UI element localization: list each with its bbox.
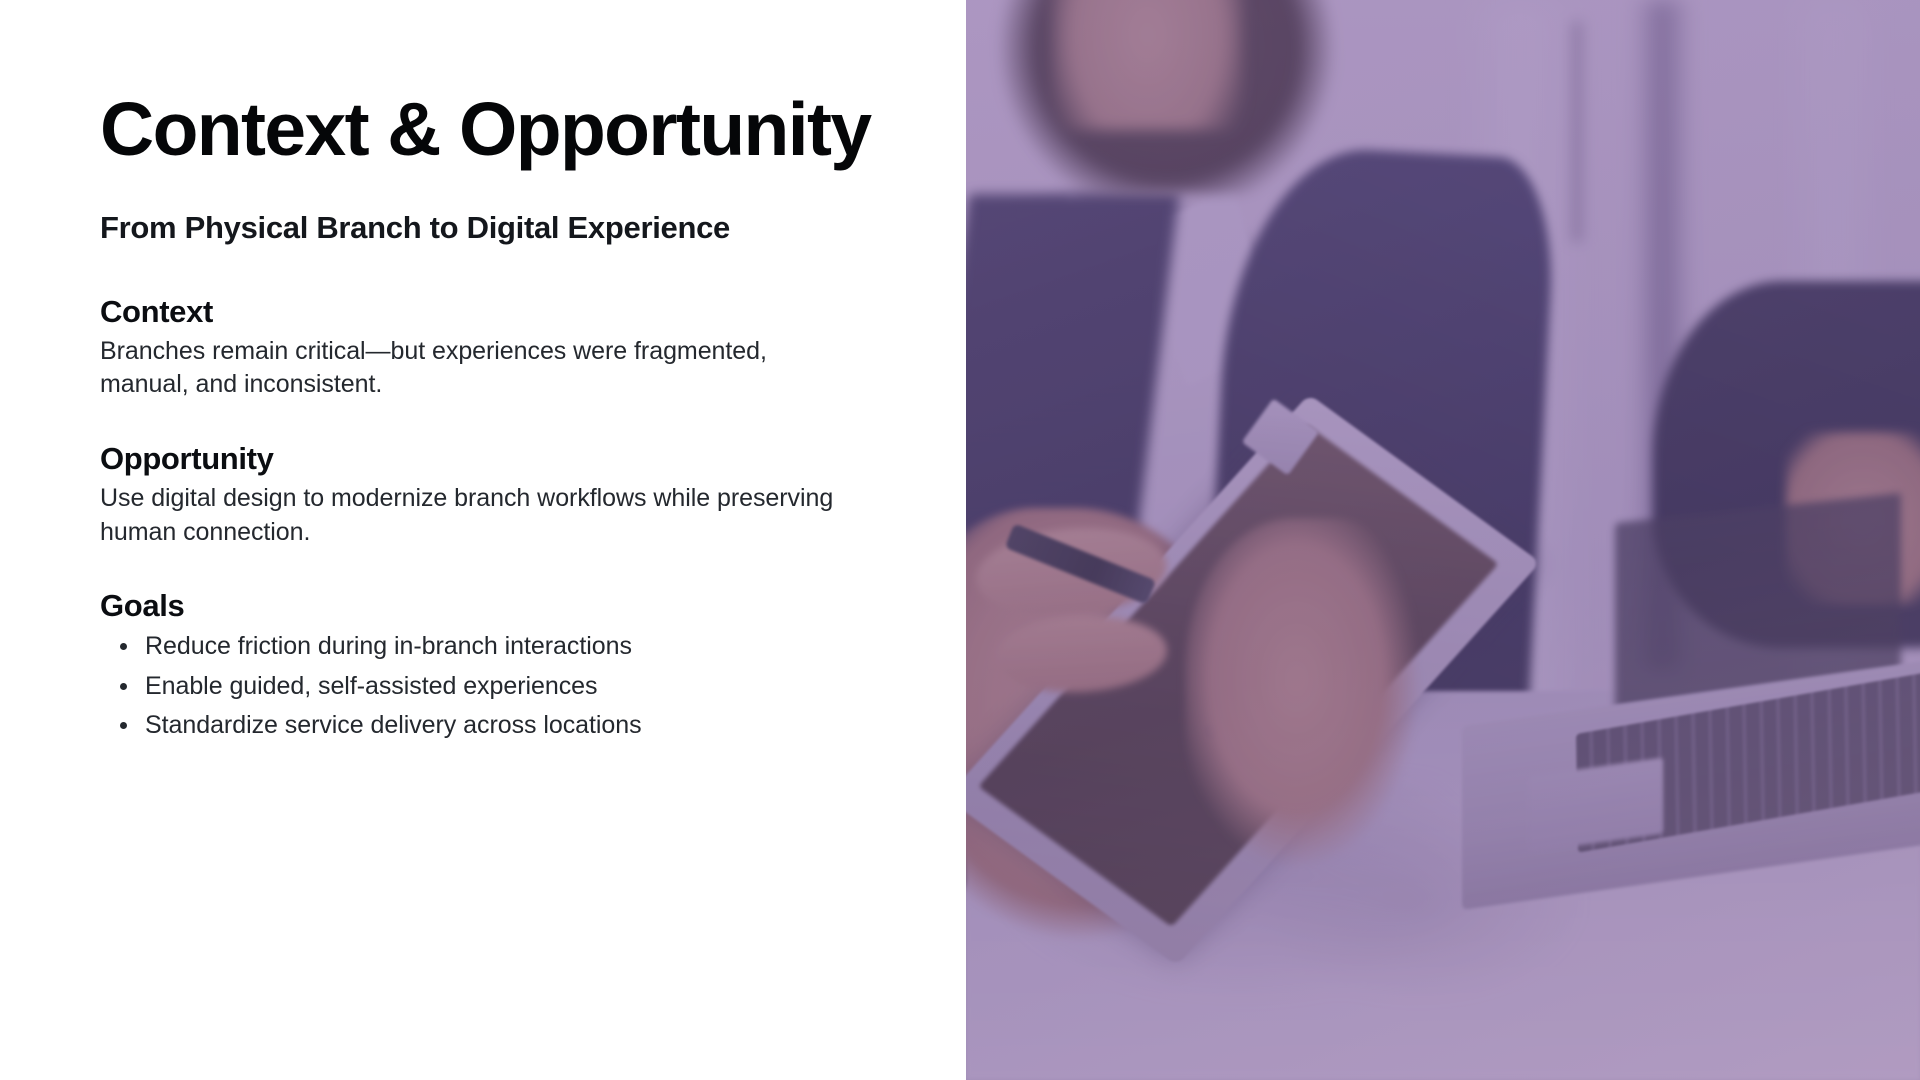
- section-body-context: Branches remain critical—but experiences…: [100, 335, 860, 402]
- page-title: Context & Opportunity: [100, 0, 900, 167]
- right-hand: [1185, 518, 1433, 874]
- list-item-label: Enable guided, self-assisted experiences: [145, 672, 597, 700]
- photo-scene: [966, 0, 1920, 1080]
- list-item-label: Reduce friction during in-branch interac…: [145, 632, 632, 660]
- bullet-dot-icon: [120, 722, 127, 729]
- sections-container: Context Branches remain critical—but exp…: [100, 247, 900, 742]
- bullet-dot-icon: [120, 683, 127, 690]
- list-item-label: Standardize service delivery across loca…: [145, 711, 642, 739]
- list-item: Reduce friction during in-branch interac…: [100, 630, 900, 662]
- section-body-opportunity: Use digital design to modernize branch w…: [100, 482, 860, 549]
- person-chin: [1052, 0, 1243, 130]
- content-panel: Context & Opportunity From Physical Bran…: [0, 0, 966, 1080]
- slide: Context & Opportunity From Physical Bran…: [0, 0, 1920, 1080]
- section-goals: Goals Reduce friction during in-branch i…: [100, 586, 900, 741]
- wall-mark: [1572, 22, 1582, 242]
- slide-subtitle: From Physical Branch to Digital Experien…: [100, 167, 900, 247]
- section-heading-goals: Goals: [100, 586, 900, 626]
- goals-bullet-list: Reduce friction during in-branch interac…: [100, 630, 900, 741]
- list-item: Enable guided, self-assisted experiences: [100, 670, 900, 702]
- section-opportunity: Opportunity Use digital design to modern…: [100, 439, 900, 549]
- section-context: Context Branches remain critical—but exp…: [100, 292, 900, 402]
- section-heading-context: Context: [100, 292, 900, 332]
- section-heading-opportunity: Opportunity: [100, 439, 900, 479]
- bullet-dot-icon: [120, 643, 127, 650]
- list-item: Standardize service delivery across loca…: [100, 709, 900, 741]
- photo-panel: [966, 0, 1920, 1080]
